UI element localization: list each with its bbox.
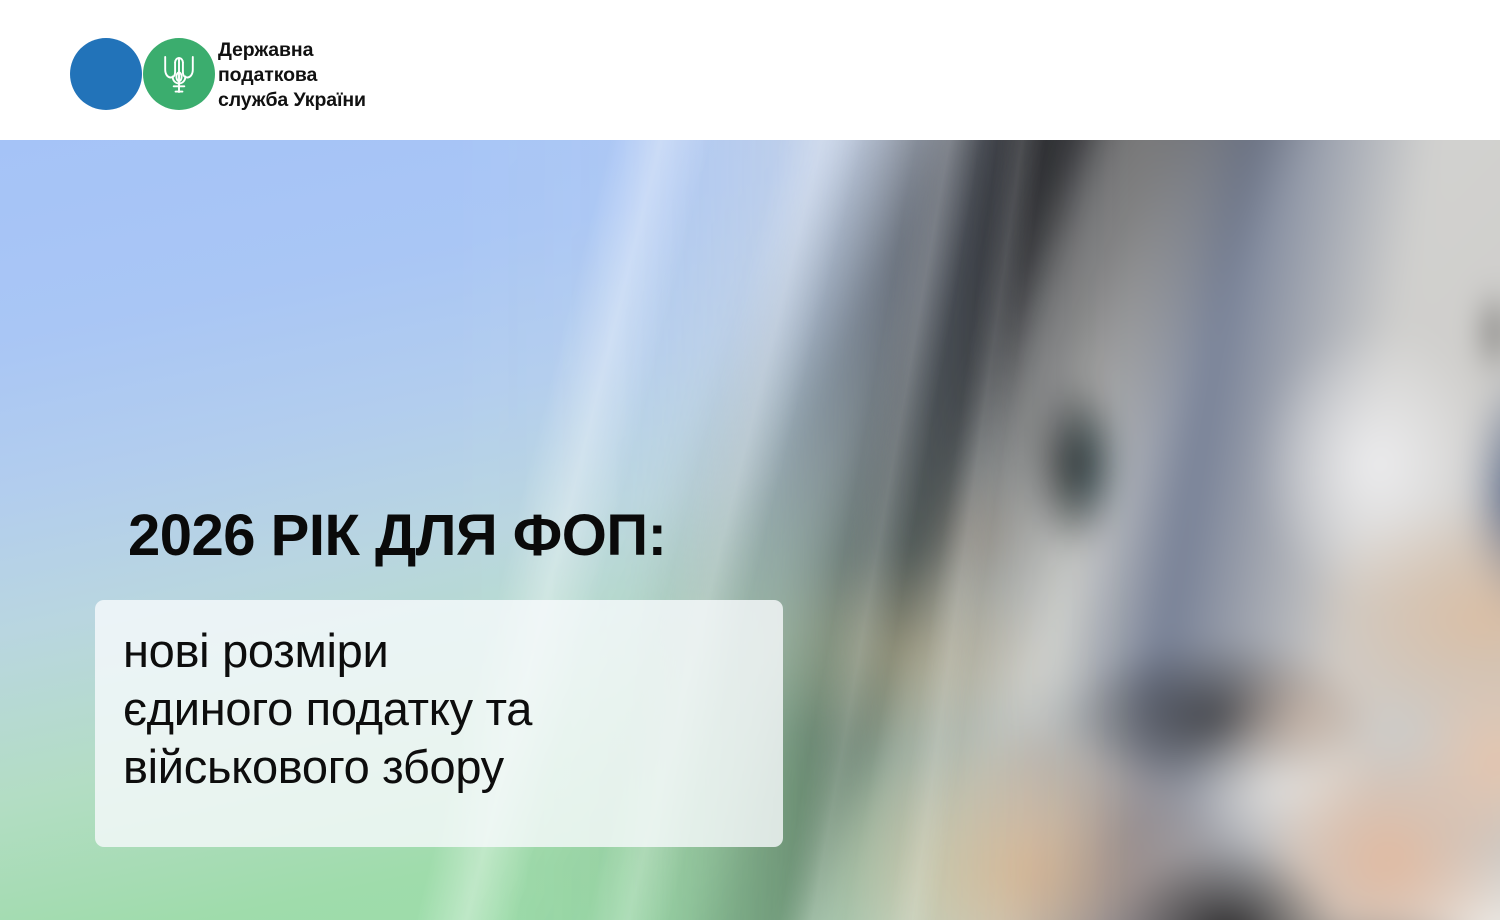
logo-line-2: податкова [218, 63, 366, 88]
subtitle-text: нові розміри єдиного податку та військов… [123, 622, 773, 795]
page-title: 2026 РІК ДЛЯ ФОП: [128, 507, 666, 565]
green-circle-icon [143, 38, 215, 110]
subtitle-line-1: нові розміри [123, 622, 773, 680]
logo-marks [70, 38, 210, 112]
logo-line-1: Державна [218, 38, 366, 63]
header-bar: Державна податкова служба України [0, 0, 1500, 140]
blue-circle-icon [70, 38, 142, 110]
trident-icon [162, 52, 196, 96]
tax-service-logo: Державна податкова служба України [70, 38, 366, 112]
logo-wordmark: Державна податкова служба України [218, 38, 366, 112]
subtitle-line-2: єдиного податку та [123, 680, 773, 738]
logo-line-3: служба України [218, 88, 366, 113]
hero-stage: 2026 РІК ДЛЯ ФОП: нові розміри єдиного п… [0, 140, 1500, 920]
subtitle-panel: нові розміри єдиного податку та військов… [95, 600, 783, 847]
promo-banner: Державна податкова служба України 2026 Р… [0, 0, 1500, 920]
subtitle-line-3: військового збору [123, 738, 773, 796]
